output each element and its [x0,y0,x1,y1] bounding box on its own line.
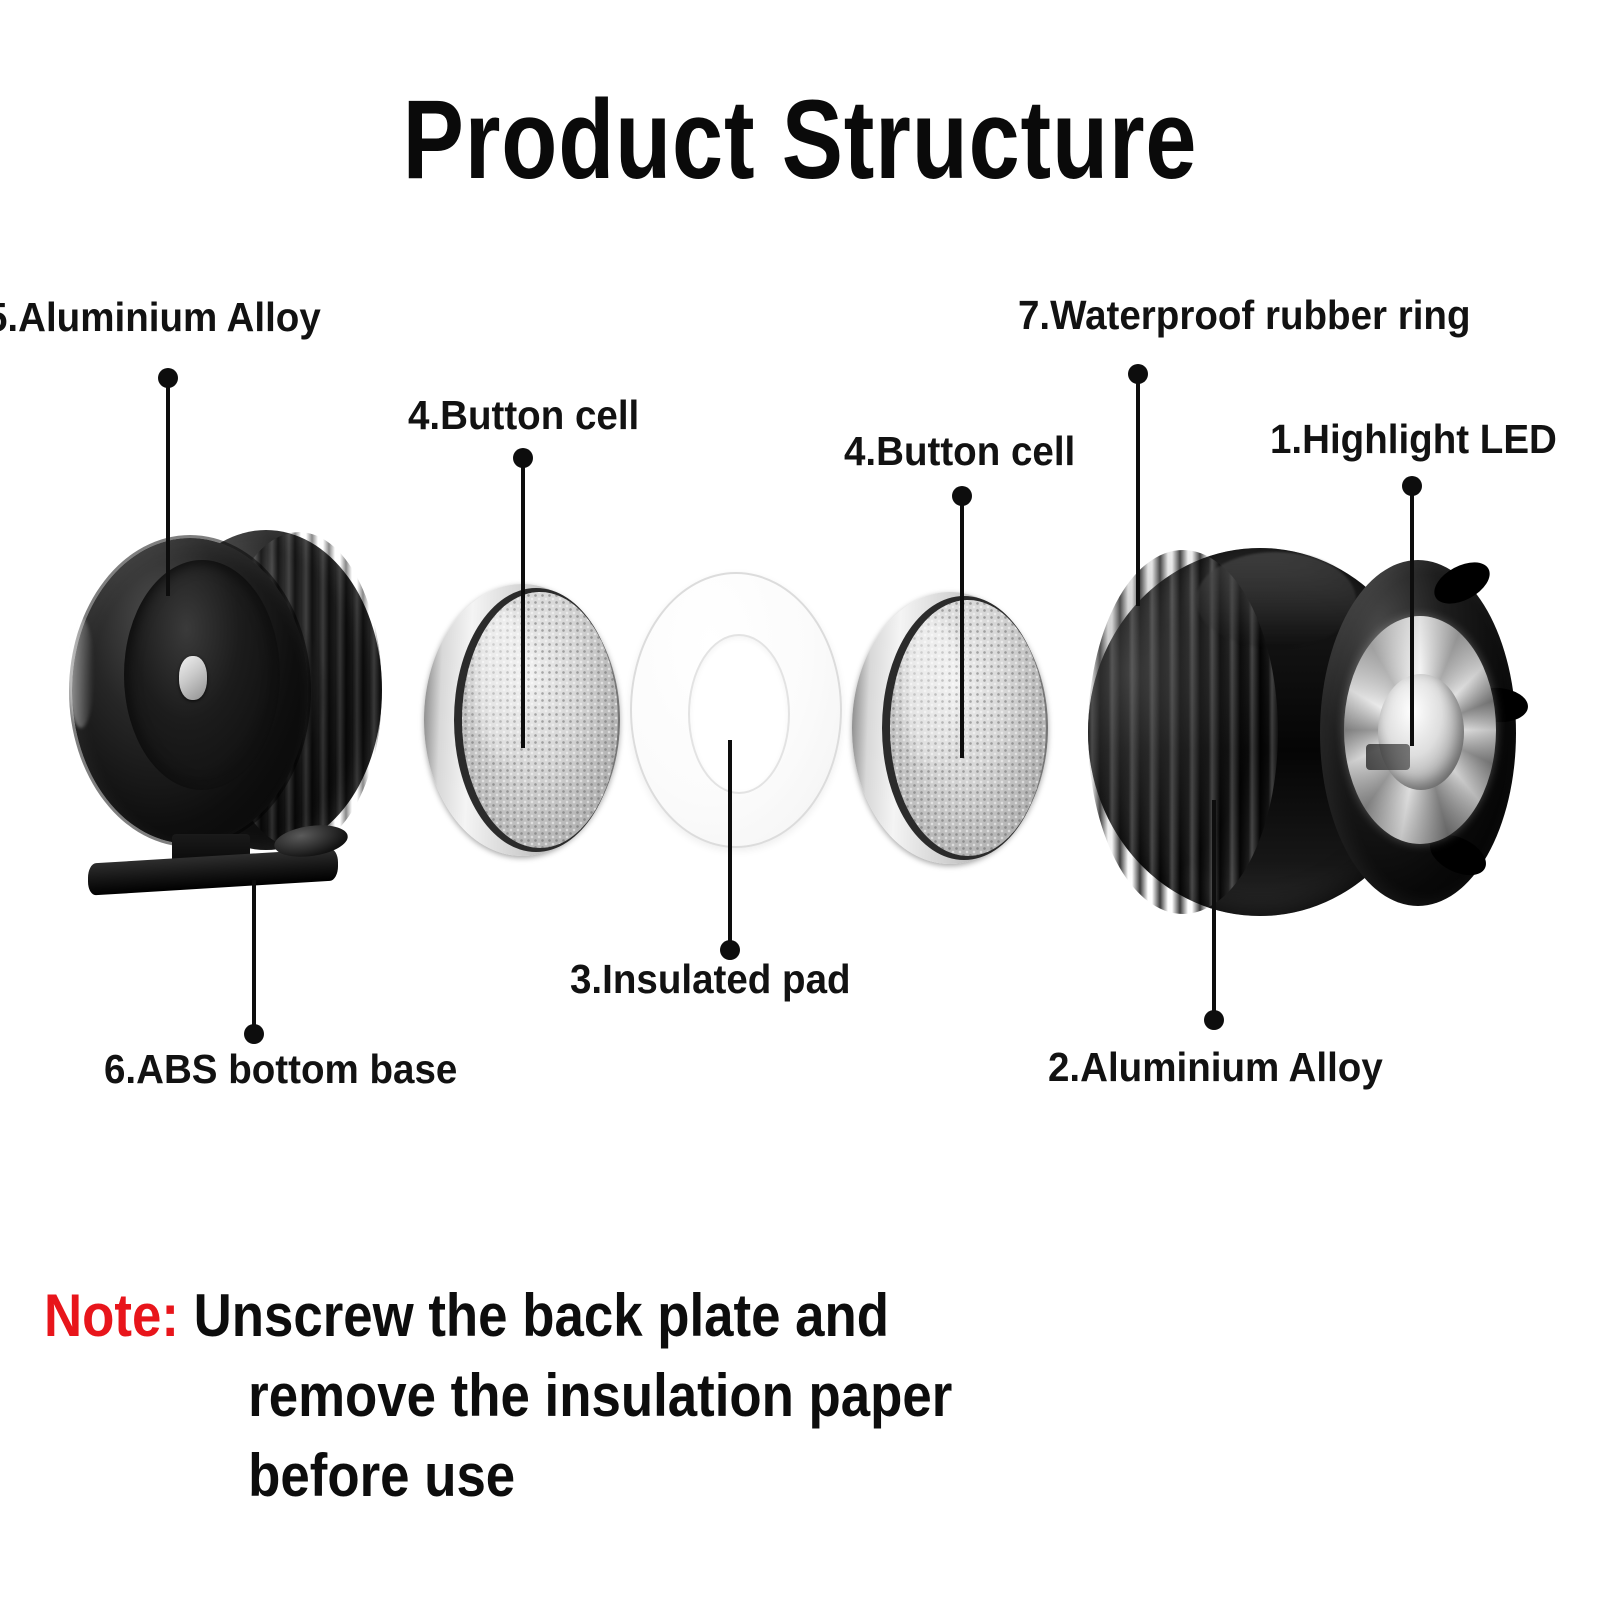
label-waterproof-rubber-ring: 7.Waterproof rubber ring [1018,294,1471,337]
leader-line-insulated-pad [728,740,732,948]
label-aluminium-alloy-2: 2.Aluminium Alloy [1048,1046,1383,1089]
leader-line-button-cell-left [521,458,525,748]
leader-line-highlight-led [1410,486,1414,746]
led-emitter [1366,744,1410,770]
note-block: Note: Unscrew the back plate and remove … [44,1276,968,1515]
back-cap-rim-highlight [68,618,94,728]
abs-bottom-base-part [88,834,338,888]
leader-line-button-cell-right [960,496,964,758]
button-cell-gloss [902,616,962,766]
leader-line-aluminium-alloy-5 [166,378,170,596]
label-highlight-led: 1.Highlight LED [1270,418,1557,461]
highlight-led-lens [1344,616,1496,844]
leader-line-waterproof-ring [1136,374,1140,606]
led-head-part [1076,520,1536,940]
back-cap-part [66,518,386,868]
label-insulated-pad: 3.Insulated pad [570,958,851,1001]
note-text-line-3: before use [248,1436,968,1516]
note-text-line-1: Unscrew the back plate and [194,1282,889,1349]
led-lens-dome [1378,674,1464,790]
leader-dot-abs-bottom-base [244,1024,264,1044]
insulated-pad-part [630,572,842,848]
leader-dot-aluminium-alloy-2 [1204,1010,1224,1030]
insulated-pad-hole [688,634,790,794]
button-cell-gloss [474,608,534,758]
label-button-cell-left: 4.Button cell [408,394,639,437]
back-cap-screw [179,656,207,700]
button-cell-face [462,592,618,848]
note-text-line-2: remove the insulation paper [248,1356,968,1436]
page-title: Product Structure [144,84,1456,196]
waterproof-rubber-ring [1196,552,1356,648]
note-line-1: Note: Unscrew the back plate and [44,1276,968,1356]
product-structure-diagram: Product Structure [0,0,1600,1600]
leader-line-aluminium-alloy-2 [1212,800,1216,1018]
label-button-cell-right: 4.Button cell [844,430,1075,473]
label-aluminium-alloy-5: 5.Aluminium Alloy [0,296,321,339]
button-cell-right [852,592,1048,864]
note-keyword: Note: [44,1282,179,1349]
leader-line-abs-bottom-base [252,880,256,1032]
label-abs-bottom-base: 6.ABS bottom base [104,1048,457,1091]
button-cell-face [890,600,1046,856]
